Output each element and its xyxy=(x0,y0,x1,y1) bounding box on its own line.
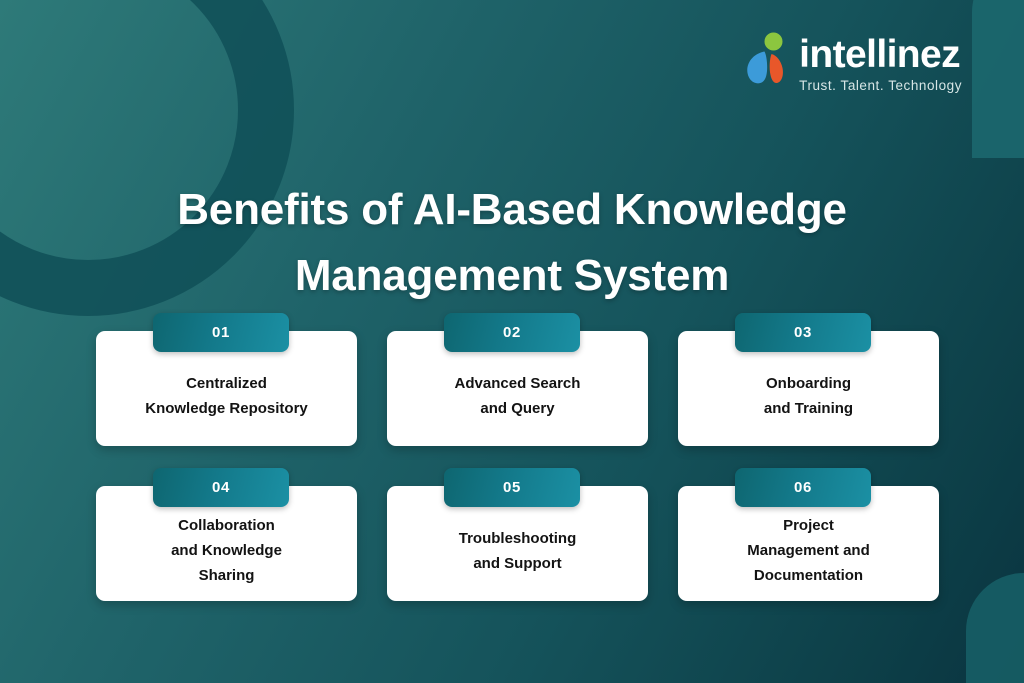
panel-decoration-top-right xyxy=(972,0,1024,158)
card-title-02-line-1: Advanced Search xyxy=(455,372,581,397)
infographic-canvas: intellinez Trust. Talent. Technology Ben… xyxy=(0,0,1024,683)
logo-text-block: intellinez Trust. Talent. Technology xyxy=(799,32,962,93)
card-number-badge-01: 01 xyxy=(153,313,289,352)
benefit-card-02[interactable]: 02 Advanced Search and Query xyxy=(387,313,648,446)
benefit-card-05[interactable]: 05 Troubleshooting and Support xyxy=(387,468,648,601)
card-number-badge-04: 04 xyxy=(153,468,289,507)
benefit-card-06[interactable]: 06 Project Management and Documentation xyxy=(678,468,939,601)
card-title-05-line-1: Troubleshooting xyxy=(459,527,577,552)
card-title-06-line-3: Documentation xyxy=(747,564,870,589)
card-title-06: Project Management and Documentation xyxy=(747,514,870,588)
card-number-01: 01 xyxy=(212,324,230,341)
benefits-card-grid: 01 Centralized Knowledge Repository 02 A… xyxy=(96,313,940,601)
card-number-05: 05 xyxy=(503,479,521,496)
card-number-badge-05: 05 xyxy=(444,468,580,507)
card-number-06: 06 xyxy=(794,479,812,496)
page-title-line-2: Management System xyxy=(295,251,729,300)
card-title-01-line-2: Knowledge Repository xyxy=(145,397,308,422)
card-number-badge-03: 03 xyxy=(735,313,871,352)
card-number-04: 04 xyxy=(212,479,230,496)
card-number-03: 03 xyxy=(794,324,812,341)
card-title-02: Advanced Search and Query xyxy=(455,372,581,422)
benefit-card-04[interactable]: 04 Collaboration and Knowledge Sharing xyxy=(96,468,357,601)
page-title-line-1: Benefits of AI-Based Knowledge xyxy=(177,185,847,234)
intellinez-leaf-logo-icon xyxy=(746,32,790,86)
benefit-card-01[interactable]: 01 Centralized Knowledge Repository xyxy=(96,313,357,446)
card-number-badge-02: 02 xyxy=(444,313,580,352)
card-title-03-line-1: Onboarding xyxy=(764,372,853,397)
card-title-04-line-3: Sharing xyxy=(171,564,282,589)
card-title-01: Centralized Knowledge Repository xyxy=(145,372,308,422)
page-title: Benefits of AI-Based Knowledge Managemen… xyxy=(0,177,1024,307)
card-number-badge-06: 06 xyxy=(735,468,871,507)
logo-wordmark: intellinez xyxy=(799,35,962,74)
card-title-01-line-1: Centralized xyxy=(145,372,308,397)
card-title-05-line-2: and Support xyxy=(459,552,577,577)
card-title-03-line-2: and Training xyxy=(764,397,853,422)
benefit-card-03[interactable]: 03 Onboarding and Training xyxy=(678,313,939,446)
card-title-06-line-1: Project xyxy=(747,514,870,539)
card-title-05: Troubleshooting and Support xyxy=(459,527,577,577)
card-title-04-line-2: and Knowledge xyxy=(171,539,282,564)
card-number-02: 02 xyxy=(503,324,521,341)
card-title-04: Collaboration and Knowledge Sharing xyxy=(171,514,282,588)
card-title-04-line-1: Collaboration xyxy=(171,514,282,539)
card-title-02-line-2: and Query xyxy=(455,397,581,422)
panel-decoration-bottom-right xyxy=(966,573,1024,683)
logo-tagline: Trust. Talent. Technology xyxy=(799,79,962,93)
card-title-06-line-2: Management and xyxy=(747,539,870,564)
card-title-03: Onboarding and Training xyxy=(764,372,853,422)
brand-logo[interactable]: intellinez Trust. Talent. Technology xyxy=(746,32,962,93)
